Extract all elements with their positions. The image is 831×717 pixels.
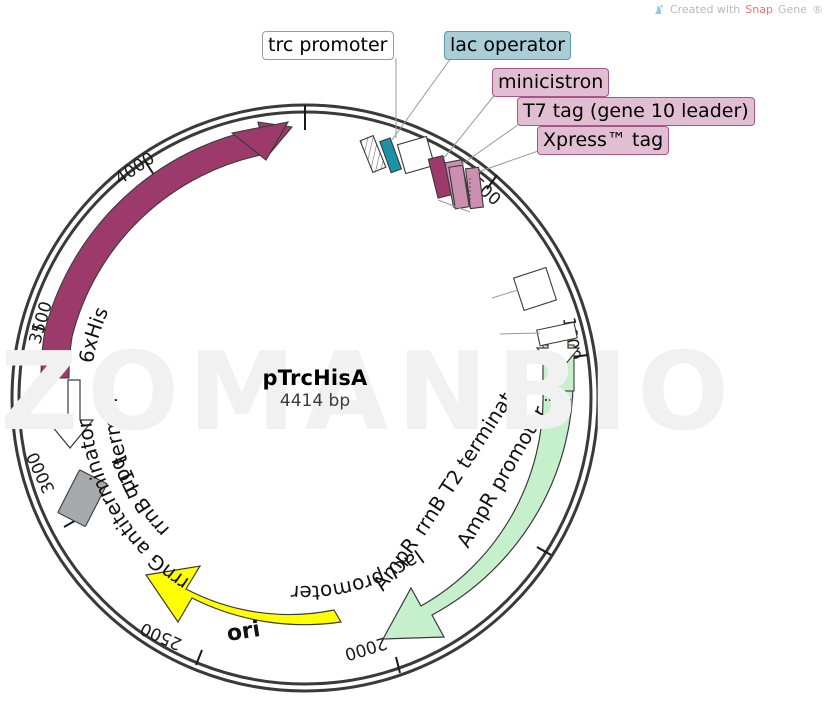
snapgene-logo-icon <box>653 4 665 16</box>
label-trc-promoter[interactable]: trc promoter <box>262 31 394 60</box>
label-xpress-tag[interactable]: Xpress™ tag <box>537 126 669 155</box>
watermark-text: ZOMANBIO <box>0 330 620 455</box>
label-t7-tag[interactable]: T7 tag (gene 10 leader) <box>517 97 755 126</box>
tick-label-2500: 2500 <box>137 618 185 654</box>
tick-label-2000: 2000 <box>342 632 389 664</box>
plasmid-map: Created with SnapGene® ZOMANBIO <box>0 0 831 713</box>
connector-empty-right <box>492 290 518 298</box>
connector-t7-tag <box>461 122 522 165</box>
snapgene-credit: Created with SnapGene® <box>653 3 823 16</box>
credit-brand-gene: Gene <box>778 3 807 16</box>
connector-xpress-tag <box>478 150 541 172</box>
curved-label-ori: ori <box>225 617 262 647</box>
credit-registered-mark: ® <box>812 3 823 16</box>
credit-prefix: Created with <box>670 3 740 16</box>
credit-brand-snap: Snap <box>745 3 773 16</box>
label-minicistron[interactable]: minicistron <box>492 68 609 97</box>
feature-empty-box-right[interactable] <box>514 268 557 311</box>
feature-empty-box-top[interactable] <box>397 136 434 173</box>
connector-minicistron <box>444 92 497 158</box>
label-lac-operator[interactable]: lac operator <box>444 31 571 60</box>
tick-2000 <box>396 657 400 673</box>
